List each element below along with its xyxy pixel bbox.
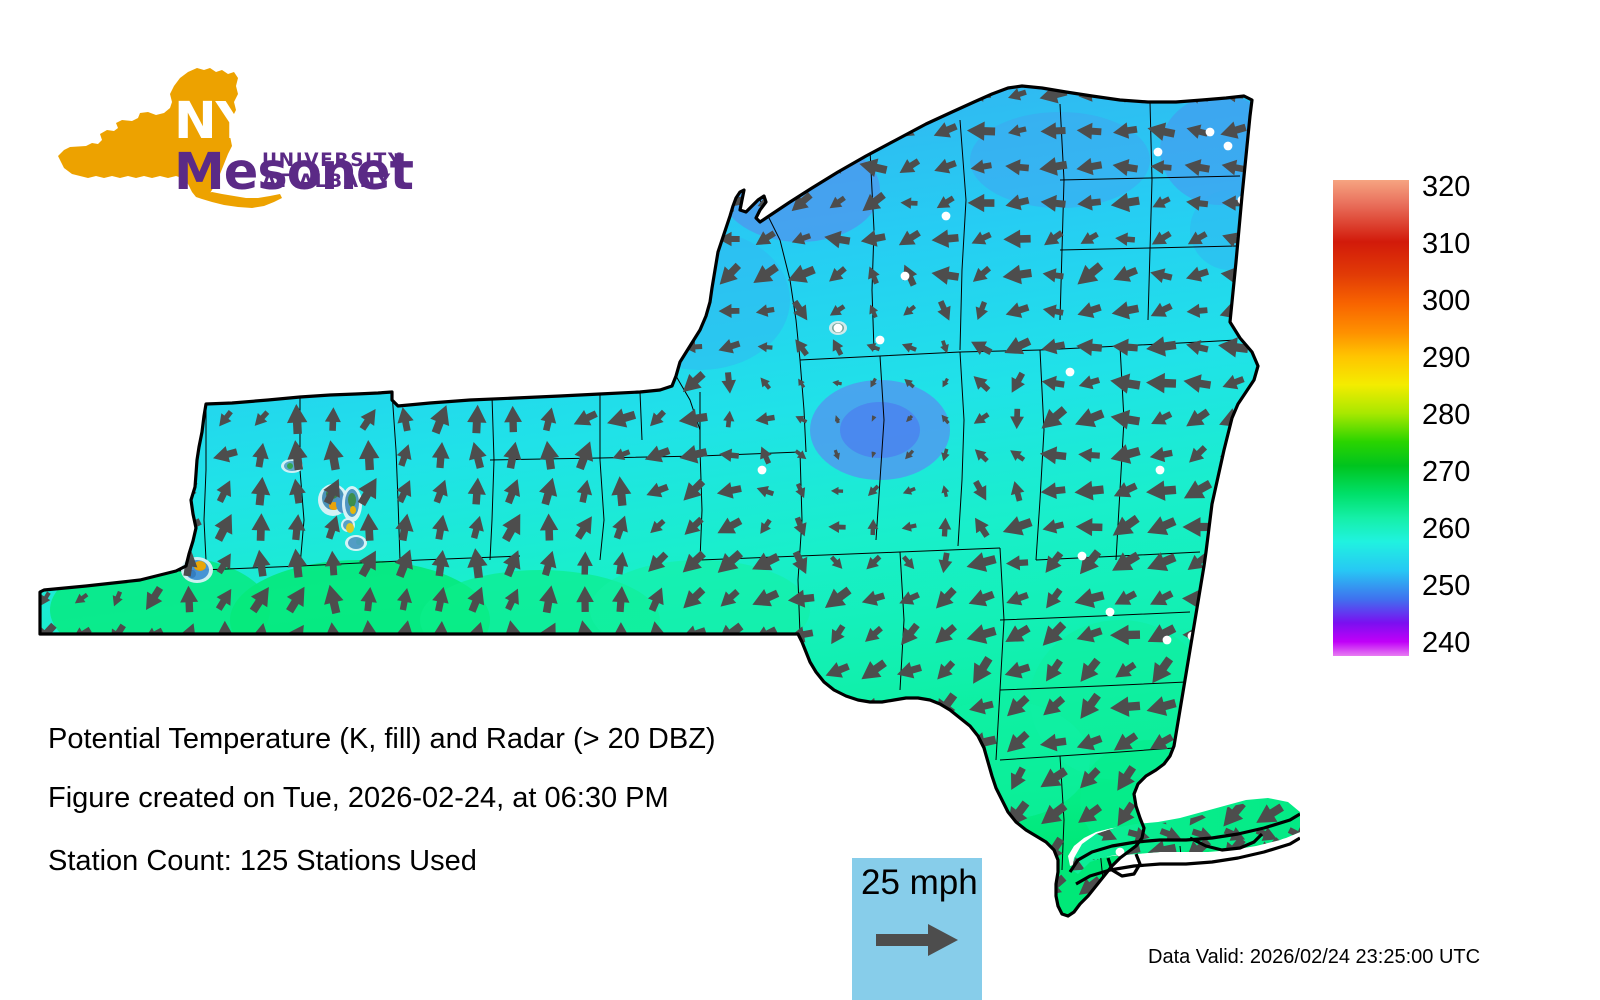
colorbar xyxy=(1333,180,1409,656)
colorbar-tick-260: 260 xyxy=(1422,515,1470,544)
wind-scale-legend: 25 mph xyxy=(852,858,982,1000)
colorbar-tick-290: 290 xyxy=(1422,344,1470,373)
wind-scale-label: 25 mph xyxy=(861,863,978,903)
new-york-state-map xyxy=(0,0,1300,960)
colorbar-tick-240: 240 xyxy=(1422,629,1470,658)
station-count-text: Station Count: 125 Stations Used xyxy=(48,845,477,878)
figure-title: Potential Temperature (K, fill) and Rada… xyxy=(48,723,716,756)
map-canvas xyxy=(0,0,1300,960)
wind-arrow-icon xyxy=(876,920,960,960)
colorbar-tick-250: 250 xyxy=(1422,572,1470,601)
figure-created-text: Figure created on Tue, 2026-02-24, at 06… xyxy=(48,782,669,815)
colorbar-gradient xyxy=(1333,180,1409,656)
colorbar-tick-300: 300 xyxy=(1422,287,1470,316)
colorbar-tick-310: 310 xyxy=(1422,230,1470,259)
colorbar-tick-280: 280 xyxy=(1422,401,1470,430)
colorbar-tick-320: 320 xyxy=(1422,173,1470,202)
data-valid-text: Data Valid: 2026/02/24 23:25:00 UTC xyxy=(1148,946,1480,969)
colorbar-tick-270: 270 xyxy=(1422,458,1470,487)
